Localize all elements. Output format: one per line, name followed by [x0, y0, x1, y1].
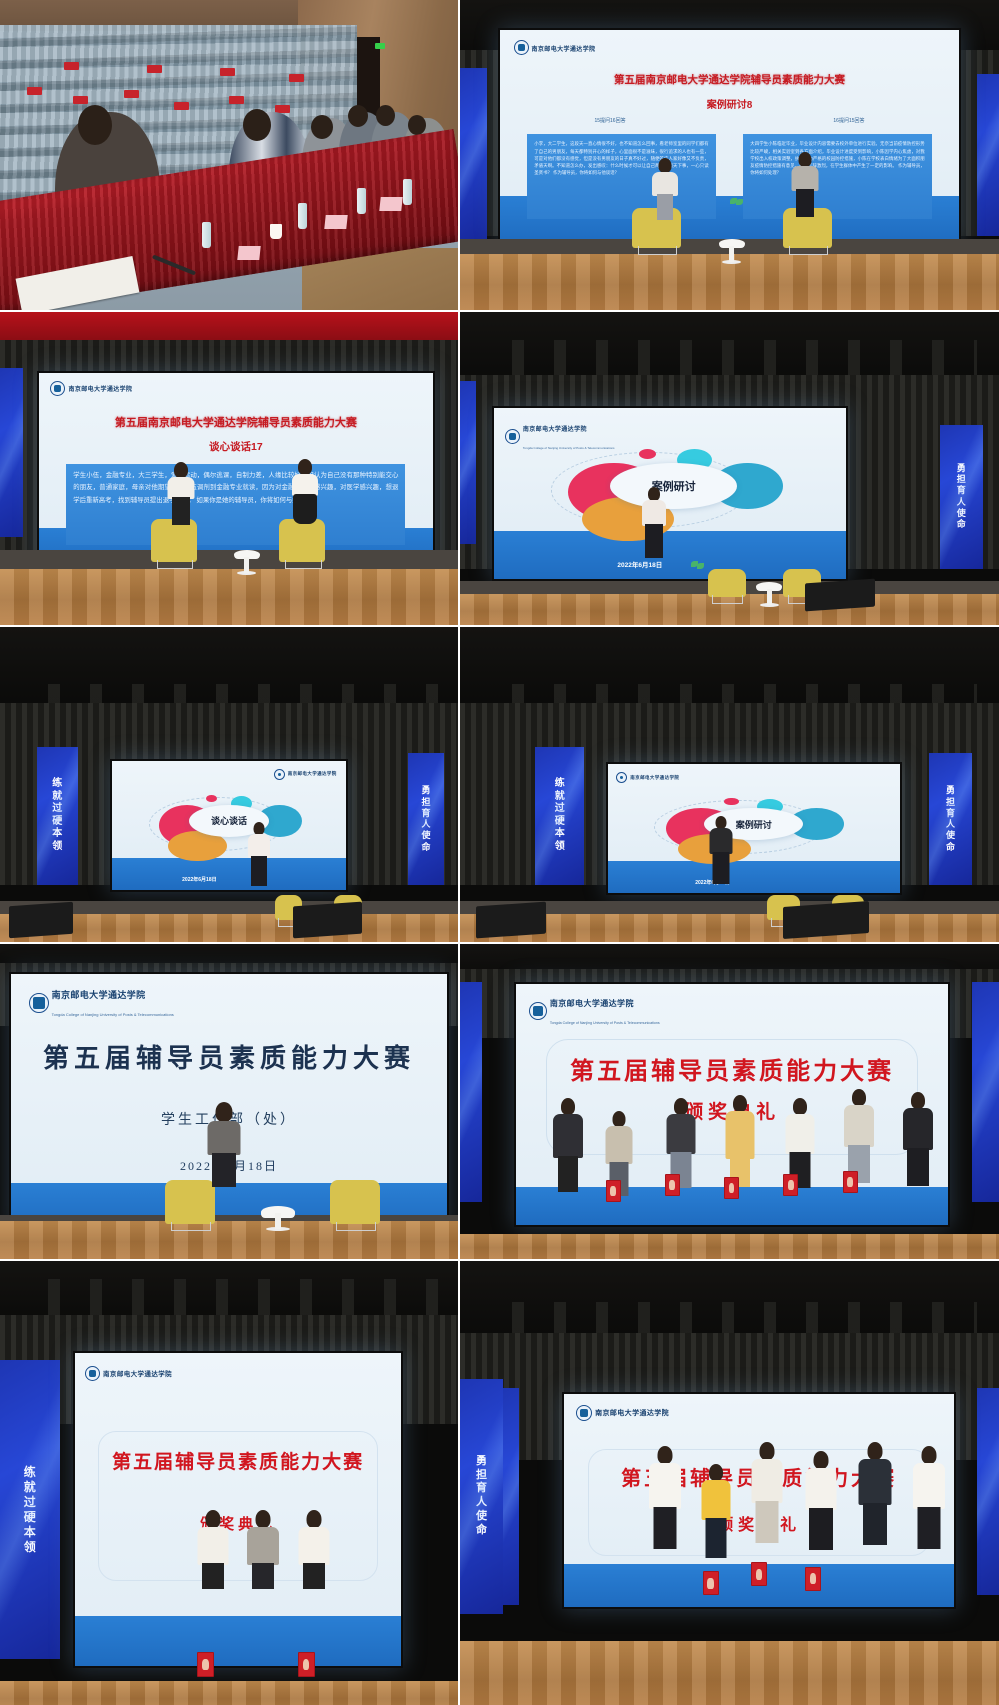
banner-left-edge [460, 982, 482, 1203]
banner-left: 练 就 过 硬 本 领 [0, 1360, 60, 1658]
banner-char: 本 [52, 828, 62, 841]
certificate [751, 1562, 767, 1586]
college-logo: 南京邮电大学通达学院 Tongda College of Nanjing Uni… [29, 985, 174, 1021]
banner-char: 过 [52, 803, 62, 816]
awardee [740, 1442, 794, 1663]
college-logo: 南京邮电大学通达学院 [514, 38, 596, 56]
photo-5-heart-to-heart-wide: 练 就 过 硬 本 领 勇 担 育 人 使 命 南京邮电大学通达学院 [0, 627, 458, 942]
banner-right-edge [977, 1388, 999, 1596]
exit-light-icon [375, 43, 385, 49]
banner-char: 命 [957, 519, 966, 530]
banner-char: 命 [476, 1524, 487, 1538]
case-text-right: 大四学生小陈临近毕业，毕业设计内容需要去校外单位进行实验。无奈当前疫情防控形势比… [743, 134, 931, 219]
banner-char: 勇 [946, 785, 955, 796]
paper-cup [270, 224, 282, 239]
college-name-cn: 南京邮电大学通达学院 [523, 427, 587, 433]
seat-tag [124, 90, 139, 98]
college-logo: 南京邮电大学通达学院 [274, 769, 337, 780]
college-name-cn: 南京邮电大学通达学院 [595, 1408, 669, 1418]
host-presenter [627, 487, 681, 600]
banner-right: 勇 担 育 人 使 命 [940, 425, 983, 569]
banner-left-edge [503, 1388, 519, 1605]
host-presenter [238, 822, 279, 923]
college-seal-icon [29, 993, 49, 1013]
name-card [379, 197, 402, 211]
college-name-en: Tongda College of Nanjing University of … [523, 446, 615, 450]
college-seal-icon [274, 769, 285, 780]
banner-char: 勇 [476, 1455, 487, 1469]
college-name-cn: 南京邮电大学通达学院 [288, 771, 337, 777]
seat-tag [27, 87, 42, 95]
certificate [783, 1174, 798, 1196]
seat-tag [174, 102, 189, 110]
certificate [606, 1180, 621, 1202]
side-table [234, 550, 260, 559]
banner-char: 担 [957, 474, 966, 485]
college-name-en: Tongda College of Nanjing University of … [52, 1012, 174, 1017]
banner-char: 担 [476, 1469, 487, 1483]
banner-char: 硬 [52, 816, 62, 829]
banner-right: 勇 担 育 人 使 命 [408, 753, 445, 885]
judge-head [376, 105, 395, 126]
certificate [197, 1652, 214, 1677]
side-table [719, 239, 745, 248]
banner-char: 本 [555, 828, 565, 841]
banner-char: 练 [555, 778, 565, 791]
college-seal-icon [50, 381, 65, 396]
photo-3-heart-to-heart-17: 南京邮电大学通达学院 第五届南京邮电大学通达学院辅导员素质能力大赛 谈心谈话17… [0, 312, 458, 625]
banner-char: 领 [52, 841, 62, 854]
college-seal-icon [85, 1366, 100, 1381]
photo-4-case-study-opening: 勇 担 育 人 使 命 南京邮电大学通达学院 Tongda College of… [460, 312, 999, 625]
water-bottle [403, 179, 412, 205]
judge-head [243, 109, 271, 141]
awardee [692, 1464, 741, 1663]
banner-char: 领 [24, 1540, 36, 1555]
college-name-cn: 南京邮电大学通达学院 [630, 775, 679, 781]
slide-title: 第五届南京邮电大学通达学院辅导员素质能力大赛 [500, 72, 960, 87]
banner-char: 人 [957, 497, 966, 508]
college-name-cn: 南京邮电大学通达学院 [103, 1368, 172, 1378]
projection-screen: 南京邮电大学通达学院 第五届南京邮电大学通达学院辅导员素质能力大赛 案例研讨8 … [498, 28, 962, 245]
photo-grid: 南京邮电大学通达学院 第五届南京邮电大学通达学院辅导员素质能力大赛 案例研讨8 … [0, 0, 999, 1705]
banner-left: 练 就 过 硬 本 领 [37, 747, 78, 886]
photo-9-award-ceremony-3: 练 就 过 硬 本 领 南京邮电大学通达学院 第五届辅导员素质能力大赛 颁奖典礼 [0, 1261, 458, 1705]
awardee [794, 1451, 848, 1663]
banner-char: 硬 [555, 816, 565, 829]
banner-char: 命 [946, 842, 955, 853]
side-led-banner [460, 68, 487, 242]
banner-char: 就 [24, 1480, 36, 1495]
banner-char: 育 [476, 1482, 487, 1496]
banner-char: 使 [476, 1510, 487, 1524]
college-name-cn: 南京邮电大学通达学院 [550, 999, 634, 1008]
seat-tag [64, 62, 79, 70]
college-logo: 南京邮电大学通达学院 [576, 1405, 669, 1421]
banner-char: 领 [555, 841, 565, 854]
banner-char: 使 [957, 508, 966, 519]
judge-head [311, 115, 333, 139]
contestant-female [638, 158, 692, 251]
stage-chair [708, 569, 746, 597]
banner-left: 练 就 过 硬 本 领 [535, 747, 584, 886]
stage-monitor-speaker [805, 579, 875, 612]
college-logo: 南京邮电大学通达学院 [616, 772, 679, 783]
awardee [832, 1089, 886, 1243]
college-seal-icon [529, 1002, 547, 1020]
certificate [843, 1171, 858, 1193]
stage-monitor-speaker [476, 902, 546, 938]
water-bottle [298, 203, 307, 229]
stage-chair [330, 1180, 380, 1224]
banner-char: 担 [421, 797, 430, 808]
college-name-cn: 南京邮电大学通达学院 [532, 47, 596, 53]
banner-char: 过 [24, 1495, 36, 1510]
banner-char: 使 [946, 830, 955, 841]
seat-tag [220, 68, 235, 76]
college-logo: 南京邮电大学通达学院 Tongda College of Nanjing Uni… [505, 418, 615, 454]
banner-char: 育 [957, 485, 966, 496]
awardee [654, 1098, 708, 1243]
stage-monitor-speaker [293, 902, 362, 938]
slide-subtitle: 案例研讨8 [500, 96, 960, 111]
leader [848, 1442, 902, 1663]
banner-char: 人 [421, 819, 430, 830]
projection-screen: 南京邮电大学通达学院 第五届南京邮电大学通达学院辅导员素质能力大赛 谈心谈话17… [37, 371, 435, 568]
certificate [703, 1571, 719, 1595]
contestant-male [778, 152, 832, 251]
side-led-banner [0, 368, 23, 537]
case-text: 学生小伍，金融专业，大三学生，爱好运动，偶尔逃课，自制力差，人缘比较好，但认为自… [66, 464, 405, 545]
side-table [261, 1206, 295, 1218]
slide-title: 第五届辅导员素质能力大赛 [516, 1051, 949, 1086]
leader [638, 1446, 692, 1663]
projection-screen: 南京邮电大学通达学院 案例研讨 2022年6月18日 [606, 762, 902, 894]
banner-char: 本 [24, 1525, 36, 1540]
banner-char: 勇 [957, 463, 966, 474]
photo-6-case-study-wide: 练 就 过 硬 本 领 勇 担 育 人 使 命 南京邮电大学通达学院 [460, 627, 999, 942]
banner-char: 命 [421, 842, 430, 853]
banner-char: 担 [946, 797, 955, 808]
stage-floor [0, 569, 458, 625]
slide-footer-band [112, 858, 346, 890]
stage-monitor-speaker [9, 902, 73, 938]
college-seal-icon [616, 772, 627, 783]
certificate [805, 1567, 821, 1591]
speaker-leader [192, 1102, 256, 1228]
seat-tag [229, 96, 244, 104]
seat-tag [289, 74, 304, 82]
banner-char: 育 [421, 808, 430, 819]
slide-subtitle: 谈心谈话17 [39, 439, 433, 454]
banner-right: 勇 担 育 人 使 命 [929, 753, 972, 885]
stage-monitor-speaker [783, 901, 869, 939]
awardee [713, 1095, 767, 1243]
awardee [773, 1098, 827, 1243]
slide-title: 第五届南京邮电大学通达学院辅导员素质能力大赛 [39, 414, 433, 430]
college-seal-icon [576, 1405, 592, 1421]
slide-title: 第五届辅导员素质能力大赛 [11, 1038, 447, 1075]
college-seal-icon [505, 429, 520, 444]
slide-footer-band [608, 861, 900, 893]
seat-tag [73, 96, 88, 104]
side-table [756, 582, 782, 591]
banner-char: 人 [946, 819, 955, 830]
college-name-cn: 南京邮电大学通达学院 [52, 990, 146, 1000]
college-logo: 南京邮电大学通达学院 [85, 1366, 172, 1381]
banner-char: 人 [476, 1496, 487, 1510]
seat-tag [147, 65, 162, 73]
college-seal-icon [514, 40, 529, 55]
water-bottle [357, 188, 366, 214]
banner-char: 练 [24, 1465, 36, 1480]
banner-left: 勇 担 育 人 使 命 [460, 1379, 503, 1614]
banner-char: 就 [52, 791, 62, 804]
college-name-cn: 南京邮电大学通达学院 [68, 384, 132, 393]
banner-char: 过 [555, 803, 565, 816]
leader [238, 1510, 288, 1700]
photo-8-award-ceremony-7: 南京邮电大学通达学院 Tongda College of Nanjing Uni… [460, 944, 999, 1259]
college-logo: 南京邮电大学通达学院 [50, 381, 132, 396]
projection-screen: 南京邮电大学通达学院 谈心谈话 2022年6月18日 [110, 759, 348, 891]
banner-char: 勇 [421, 785, 430, 796]
certificate [298, 1652, 315, 1677]
water-bottle [202, 222, 211, 248]
photo-1-judges-table [0, 0, 458, 310]
banner-char: 练 [52, 778, 62, 791]
banner-right-edge [972, 982, 999, 1203]
certificate [724, 1177, 739, 1199]
red-curtain-top [0, 312, 458, 340]
name-card [237, 246, 260, 260]
college-name-en: Tongda College of Nanjing University of … [550, 1021, 660, 1025]
slide-plant-icon [691, 561, 705, 571]
banner-char: 硬 [24, 1510, 36, 1525]
banner-left-edge [460, 381, 476, 544]
leader [902, 1446, 956, 1663]
host-presenter [697, 816, 746, 923]
leader [891, 1092, 945, 1243]
contestant-female-2 [279, 459, 329, 562]
judge-head [408, 115, 426, 135]
banner-char: 育 [946, 808, 955, 819]
judge-head [78, 105, 112, 145]
awardee [541, 1098, 595, 1243]
case-right-label: 16提问15回答 [619, 117, 961, 124]
banner-char: 就 [555, 791, 565, 804]
potted-plant-icon [730, 198, 744, 208]
photo-10-award-ceremony-leaders: 勇 担 育 人 使 命 南京邮电大学通达学院 第五届辅导员素质能力大赛 颁奖典礼 [460, 1261, 999, 1705]
lighting-truss [482, 340, 978, 378]
certificate [665, 1174, 680, 1196]
slide-title: 第五届辅导员素质能力大赛 [75, 1447, 401, 1474]
side-led-banner-right [977, 74, 999, 235]
slide-date: 2022年6月18日 [182, 876, 216, 883]
banner-char: 使 [421, 830, 430, 841]
name-card [324, 215, 347, 229]
college-logo: 南京邮电大学通达学院 Tongda College of Nanjing Uni… [529, 993, 660, 1029]
awardee [595, 1111, 644, 1243]
photo-7-opening-ceremony: 南京邮电大学通达学院 Tongda College of Nanjing Uni… [0, 944, 458, 1259]
photo-2-case-study-8: 南京邮电大学通达学院 第五届南京邮电大学通达学院辅导员素质能力大赛 案例研讨8 … [460, 0, 999, 310]
contestant-female-1 [156, 462, 206, 562]
